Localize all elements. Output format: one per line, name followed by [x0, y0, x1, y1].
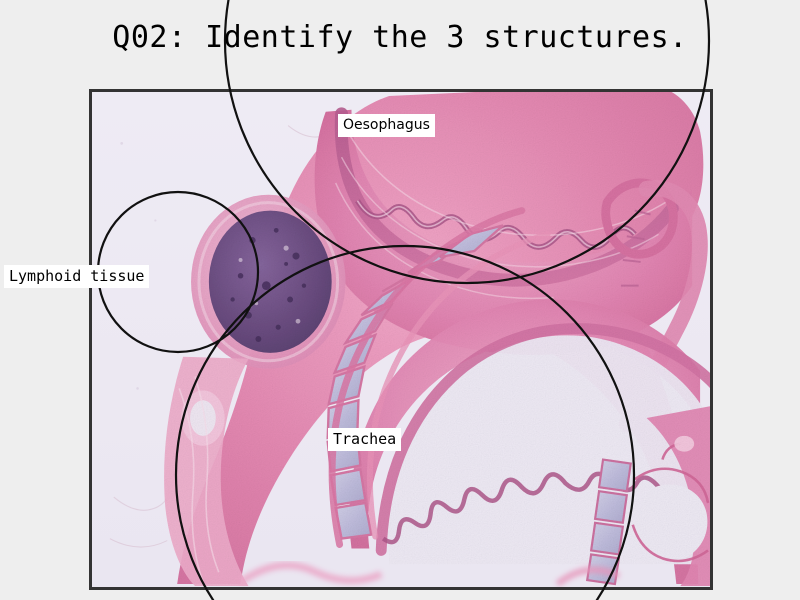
label-trachea: Trachea: [328, 428, 401, 451]
histology-image: [89, 89, 713, 590]
label-lymphoid-tissue: Lymphoid tissue: [4, 265, 149, 288]
page-title: Q02: Identify the 3 structures.: [0, 20, 800, 55]
histology-section-graphic: [92, 92, 710, 587]
label-oesophagus: Oesophagus: [338, 114, 435, 137]
quiz-slide: Q02: Identify the 3 structures.: [0, 0, 800, 600]
